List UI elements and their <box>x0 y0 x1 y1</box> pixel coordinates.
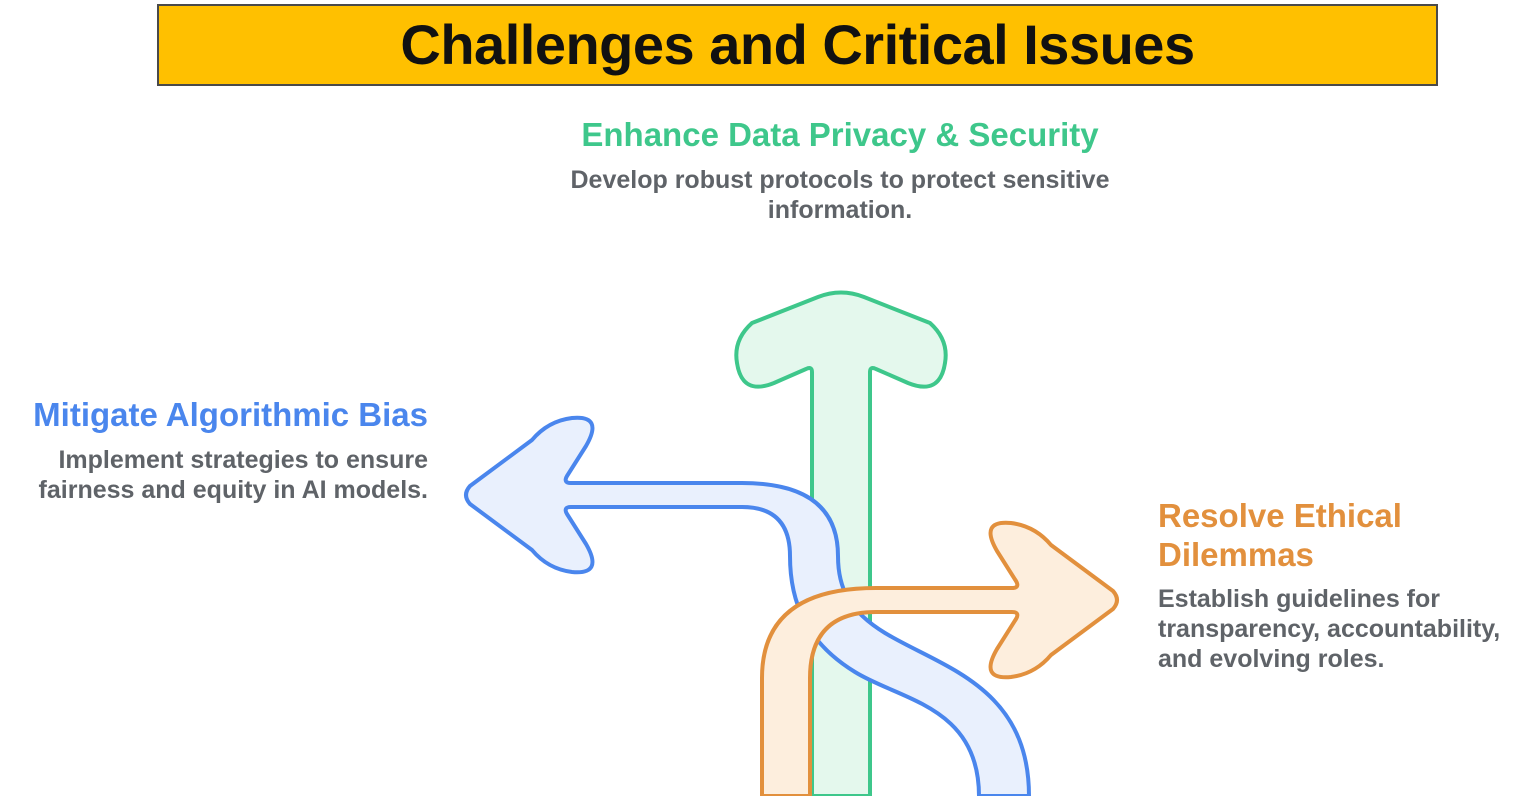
node-privacy: Enhance Data Privacy & Security Develop … <box>568 116 1112 225</box>
node-privacy-heading: Enhance Data Privacy & Security <box>568 116 1112 155</box>
node-ethics-heading: Resolve Ethical Dilemmas <box>1158 497 1528 574</box>
node-ethics-description: Establish guidelines for transparency, a… <box>1158 584 1528 674</box>
node-ethics: Resolve Ethical Dilemmas Establish guide… <box>1158 497 1528 674</box>
node-bias-description: Implement strategies to ensure fairness … <box>10 445 428 505</box>
node-bias: Mitigate Algorithmic Bias Implement stra… <box>10 396 428 505</box>
node-bias-heading: Mitigate Algorithmic Bias <box>10 396 428 435</box>
node-privacy-description: Develop robust protocols to protect sens… <box>568 165 1112 225</box>
